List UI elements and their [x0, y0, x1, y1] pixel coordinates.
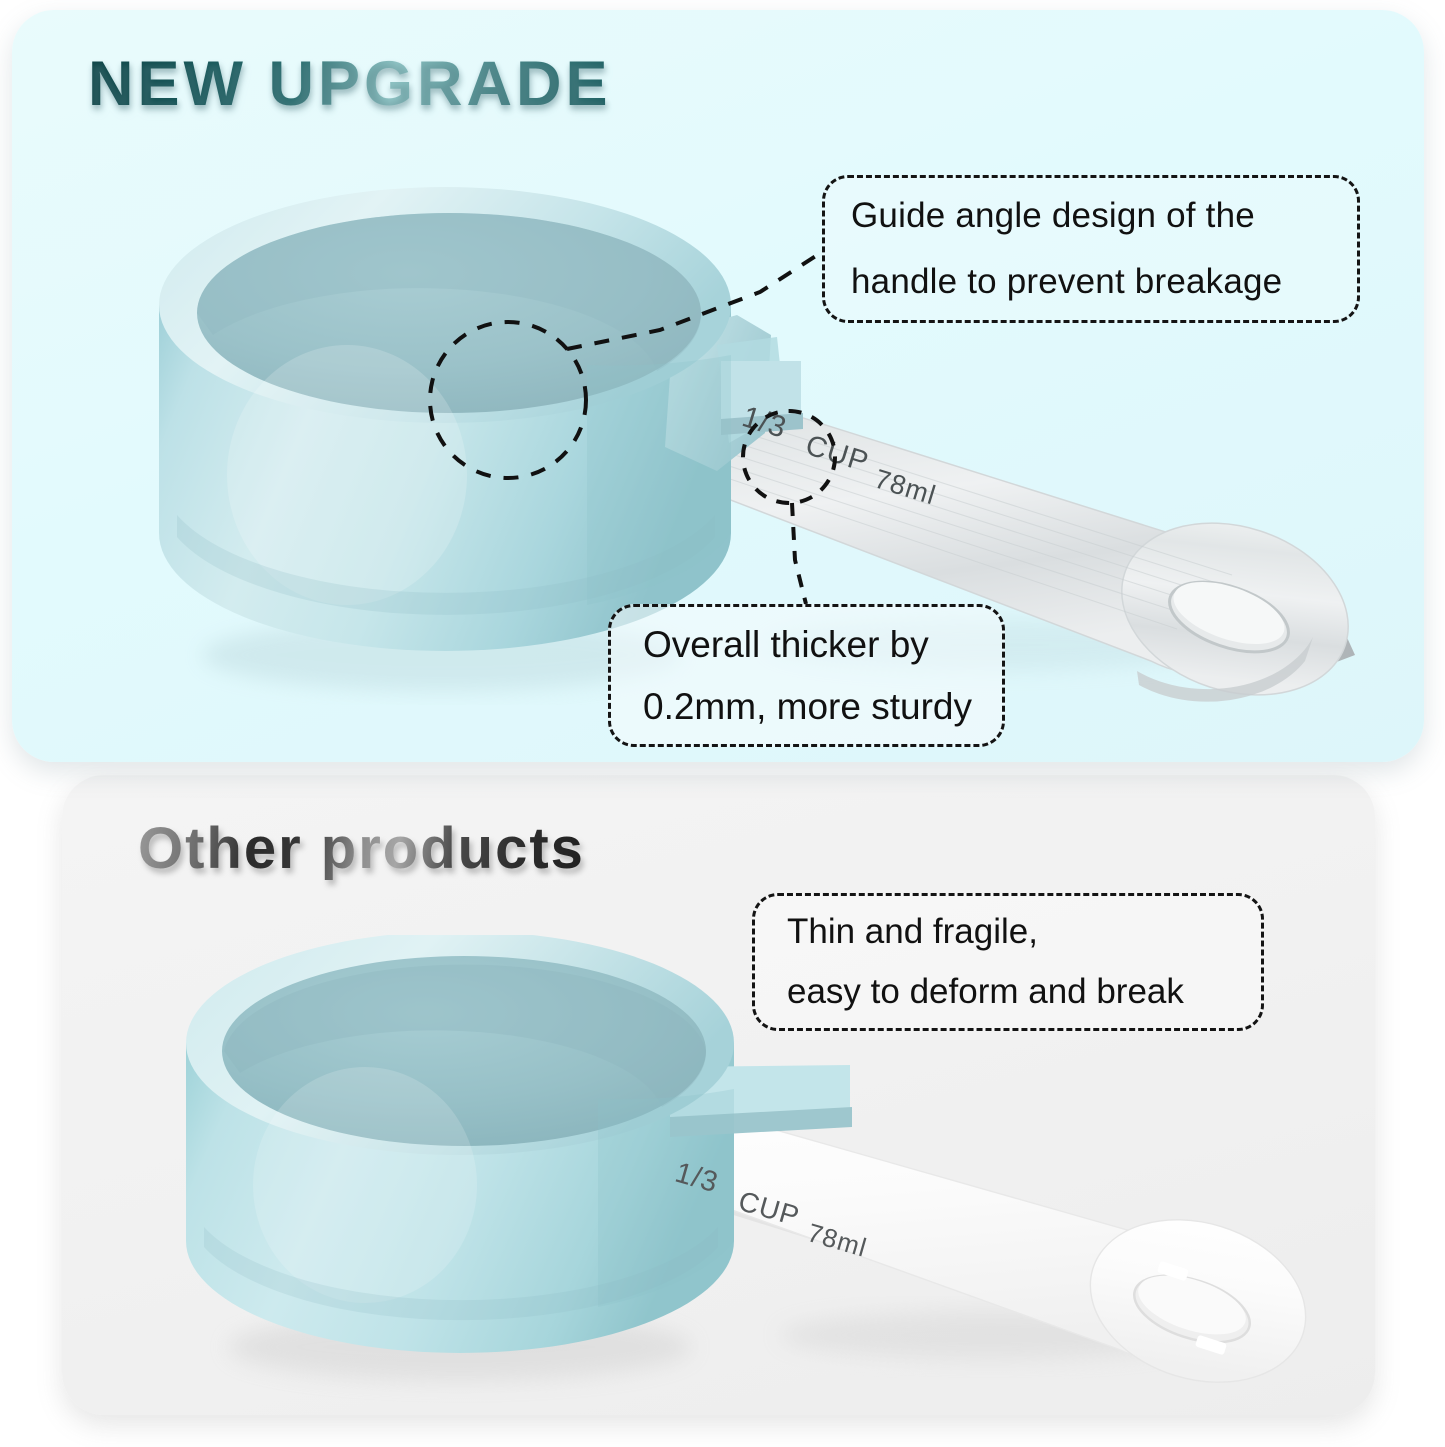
infographic-stage: 1/3 CUP 78ml — [0, 0, 1445, 1447]
callout-guide-angle: Guide angle design of the handle to prev… — [822, 175, 1360, 323]
callout-thin-fragile: Thin and fragile, easy to deform and bre… — [752, 893, 1264, 1031]
callout-thicker-line-1: Overall thicker by — [643, 614, 970, 676]
callout-thicker: Overall thicker by 0.2mm, more sturdy — [608, 604, 1005, 747]
callout-guide-line-2: handle to prevent breakage — [851, 249, 1331, 315]
cup-body — [159, 187, 803, 651]
callout-thin-line-2: easy to deform and break — [787, 962, 1229, 1022]
callout-thicker-line-2: 0.2mm, more sturdy — [643, 676, 970, 738]
callout-guide-line-1: Guide angle design of the — [851, 183, 1331, 249]
heading-new-upgrade: NEW UPGRADE — [88, 48, 612, 120]
callout-thin-line-1: Thin and fragile, — [787, 902, 1229, 962]
heading-other-products: Other products — [138, 815, 585, 882]
